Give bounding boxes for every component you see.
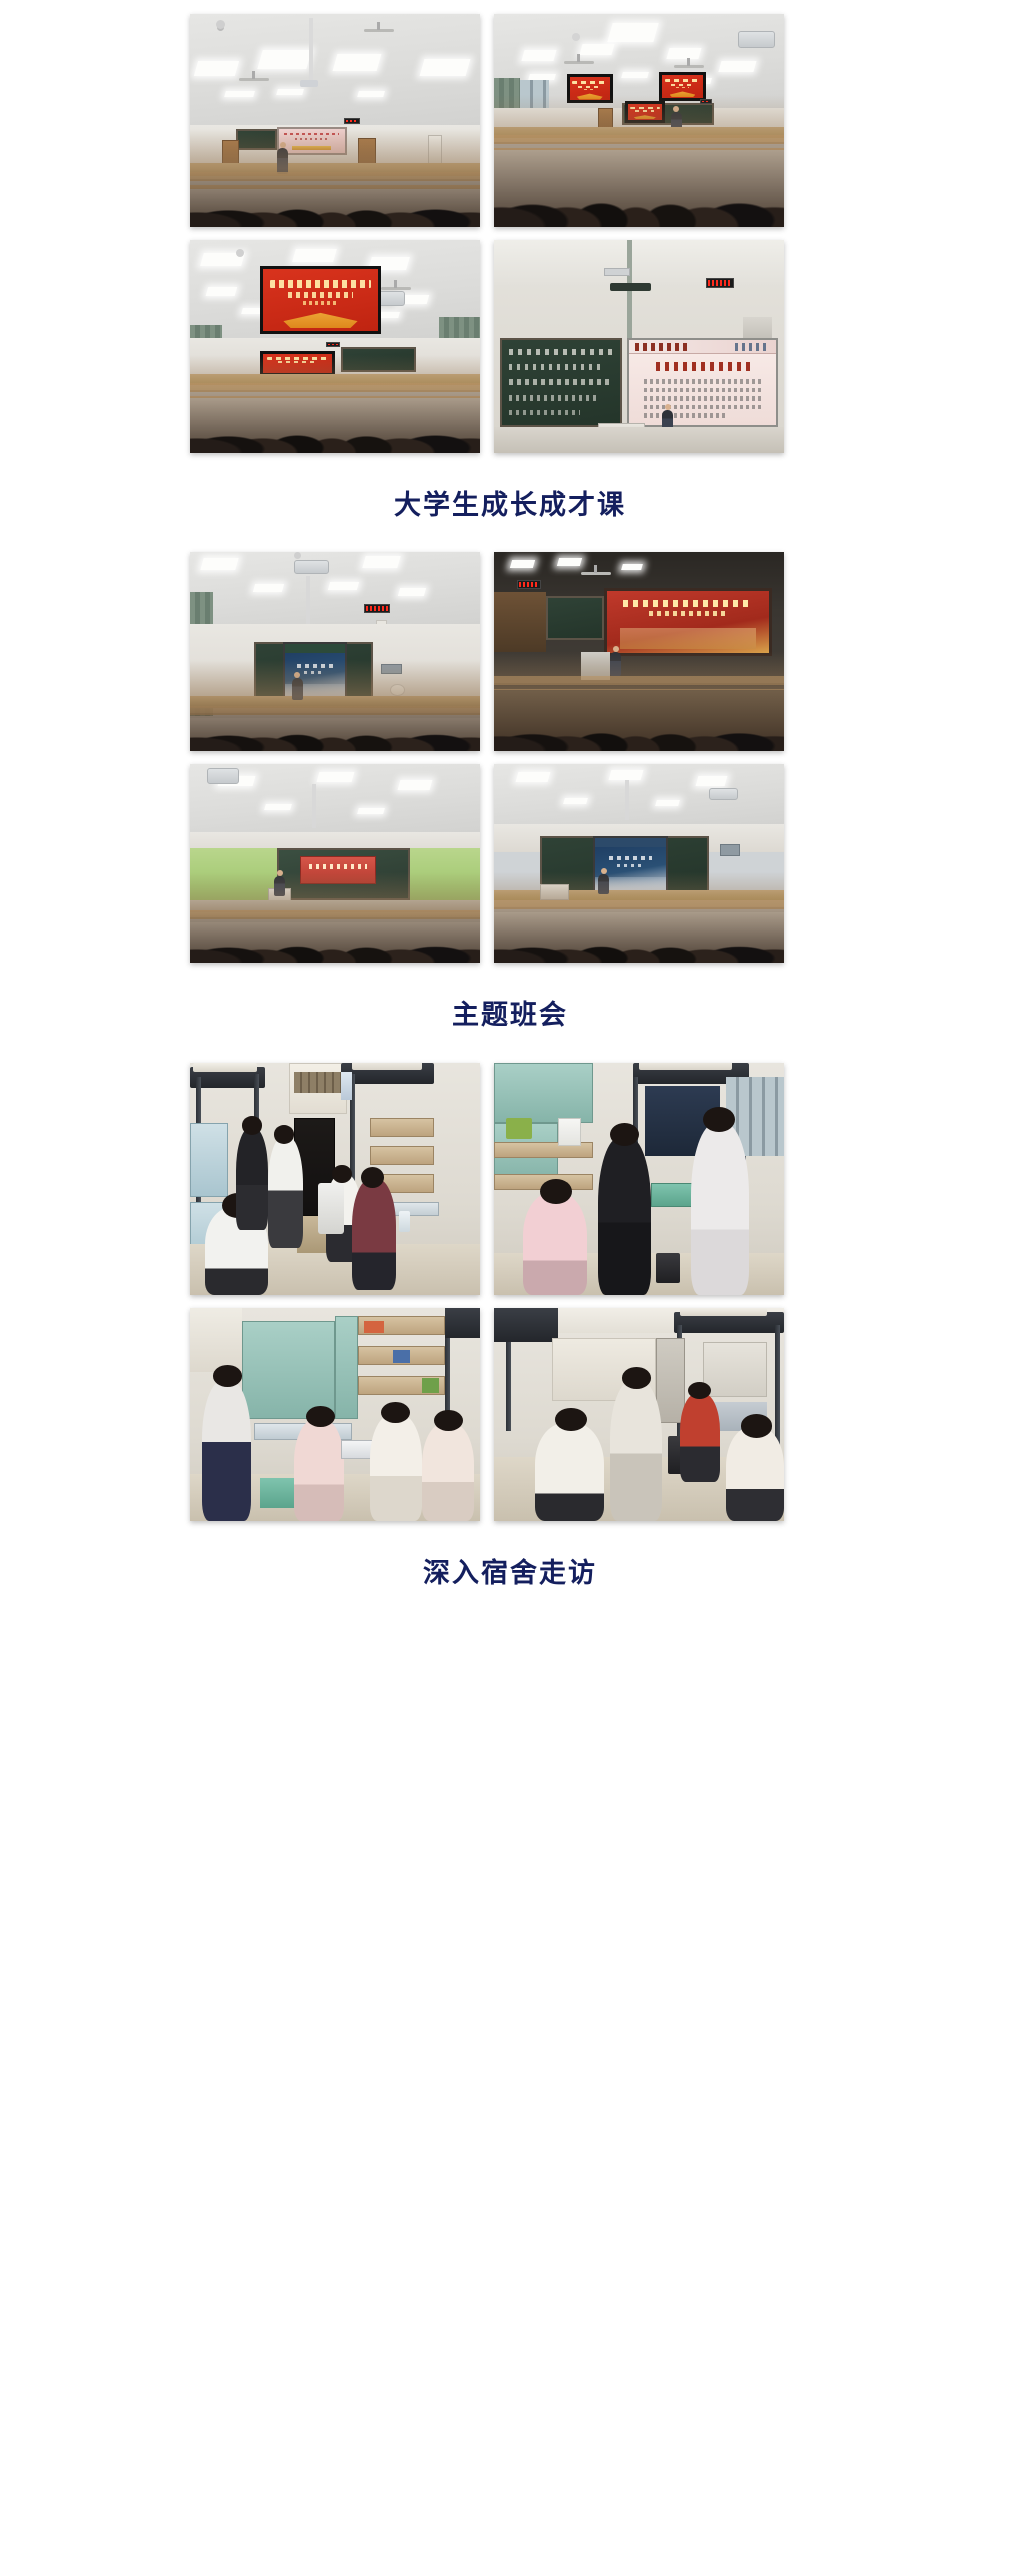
photo-classroom-blackboard-traffic-safety-slide[interactable]: [494, 240, 784, 453]
photo-section-growth-class: [190, 14, 830, 453]
photo-section-theme-class-meeting: [190, 552, 830, 963]
caption-growth-class: 大学生成长成才课: [190, 466, 830, 552]
caption-theme-class-meeting: 主题班会: [190, 976, 830, 1062]
photo-dormitory-students-seated-discussion[interactable]: [494, 1308, 784, 1521]
content-column: 大学生成长成才课: [190, 0, 830, 1590]
photo-row: [190, 14, 830, 227]
photo-dormitory-teacher-visit-with-laptop[interactable]: [190, 1308, 480, 1521]
photo-classroom-electronics-class-meeting[interactable]: [494, 764, 784, 963]
photo-row: [190, 240, 830, 453]
photo-classroom-teacher-presenting-blue-slide[interactable]: [190, 552, 480, 751]
photo-row: [190, 1063, 830, 1295]
photo-classroom-national-day-safety-meeting[interactable]: [494, 552, 784, 751]
photo-lecture-hall-dual-red-screens[interactable]: [494, 14, 784, 227]
caption-dorm-visits: 深入宿舍走访: [190, 1534, 830, 1590]
photo-lecture-hall-red-banner-screen[interactable]: [190, 240, 480, 453]
photo-row: [190, 552, 830, 751]
photo-lecture-hall-wide-rear-view[interactable]: [190, 14, 480, 227]
photo-womens-dormitory-three-students[interactable]: [494, 1063, 784, 1295]
photo-row: [190, 764, 830, 963]
photo-row: [190, 1308, 830, 1521]
photo-mens-dormitory-group-conversation[interactable]: [190, 1063, 480, 1295]
photo-classroom-green-wall-small-group[interactable]: [190, 764, 480, 963]
poster-page: 大学生成长成才课: [0, 0, 1020, 2575]
photo-section-dorm-visits: [190, 1063, 830, 1521]
